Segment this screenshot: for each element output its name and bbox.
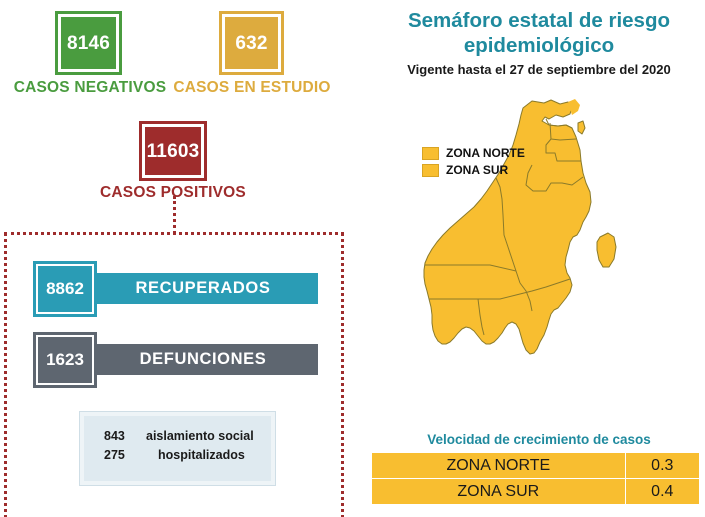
stat-fill-positivos: 11603 [145, 127, 201, 175]
semaforo-subtitle: Vigente hasta el 27 de septiembre del 20… [378, 62, 700, 77]
stat-fill-en-estudio: 632 [225, 17, 278, 69]
detail-label-aislamiento: aislamiento social [146, 429, 254, 443]
stat-value-en-estudio: 632 [235, 34, 267, 53]
bar-value-fill-recuperados: 8862 [38, 266, 92, 312]
table-row: ZONA SUR 0.4 [372, 479, 700, 505]
stat-label-casos-en-estudio: CASOS EN ESTUDIO [162, 79, 342, 97]
stat-fill-negativos: 8146 [61, 17, 116, 69]
bar-value-defunciones: 1623 [46, 350, 84, 370]
table-row: ZONA NORTE 0.3 [372, 453, 700, 479]
bar-label-recuperados: RECUPERADOS [136, 279, 271, 298]
bar-value-box-defunciones: 1623 [33, 332, 97, 388]
semaforo-title-line1: Semáforo estatal de riesgo [378, 8, 700, 33]
dotted-connector-line [173, 196, 176, 234]
semaforo-title: Semáforo estatal de riesgo epidemiológic… [378, 8, 700, 58]
semaforo-title-line2: epidemiológico [378, 33, 700, 58]
map-region-mainland [424, 100, 591, 354]
bar-recuperados: RECUPERADOS [88, 273, 318, 304]
legend-label-zona-sur: ZONA SUR [446, 163, 508, 177]
stat-box-casos-en-estudio: 632 [219, 11, 284, 75]
growth-value-sur: 0.4 [625, 479, 699, 505]
detail-value-aislamiento: 843 [104, 429, 146, 443]
quintana-roo-map [420, 95, 685, 415]
legend-label-zona-norte: ZONA NORTE [446, 146, 525, 160]
bar-label-defunciones: DEFUNCIONES [140, 350, 267, 369]
growth-table: ZONA NORTE 0.3 ZONA SUR 0.4 [371, 452, 700, 505]
bar-defunciones: DEFUNCIONES [88, 344, 318, 375]
growth-value-norte: 0.3 [625, 453, 699, 479]
stat-box-casos-negativos: 8146 [55, 11, 122, 75]
stat-label-casos-negativos: CASOS NEGATIVOS [0, 79, 180, 97]
stat-value-positivos: 11603 [147, 142, 200, 161]
legend-swatch-zona-norte [422, 147, 439, 160]
detail-row-hospitalizados: 275 hospitalizados [84, 448, 271, 462]
detail-label-hospitalizados: hospitalizados [146, 448, 245, 462]
legend-swatch-zona-sur [422, 164, 439, 177]
bar-value-fill-defunciones: 1623 [38, 337, 92, 383]
stat-box-casos-positivos: 11603 [139, 121, 207, 181]
growth-table-title: Velocidad de crecimiento de casos [378, 432, 700, 447]
map-island-mujeres [578, 121, 585, 134]
map-legend: ZONA NORTE ZONA SUR [422, 146, 525, 180]
map-svg [420, 95, 685, 415]
detail-value-hospitalizados: 275 [104, 448, 146, 462]
legend-item-zona-norte: ZONA NORTE [422, 146, 525, 160]
legend-item-zona-sur: ZONA SUR [422, 163, 525, 177]
growth-zone-sur: ZONA SUR [372, 479, 626, 505]
growth-zone-norte: ZONA NORTE [372, 453, 626, 479]
bar-value-box-recuperados: 8862 [33, 261, 97, 317]
detail-row-aislamiento: 843 aislamiento social [84, 429, 271, 443]
map-island-cozumel [597, 233, 616, 267]
bar-value-recuperados: 8862 [46, 279, 84, 299]
infographic-root: 8146 CASOS NEGATIVOS 632 CASOS EN ESTUDI… [0, 0, 705, 517]
stat-value-negativos: 8146 [67, 34, 110, 53]
detail-box: 843 aislamiento social 275 hospitalizado… [80, 412, 275, 485]
